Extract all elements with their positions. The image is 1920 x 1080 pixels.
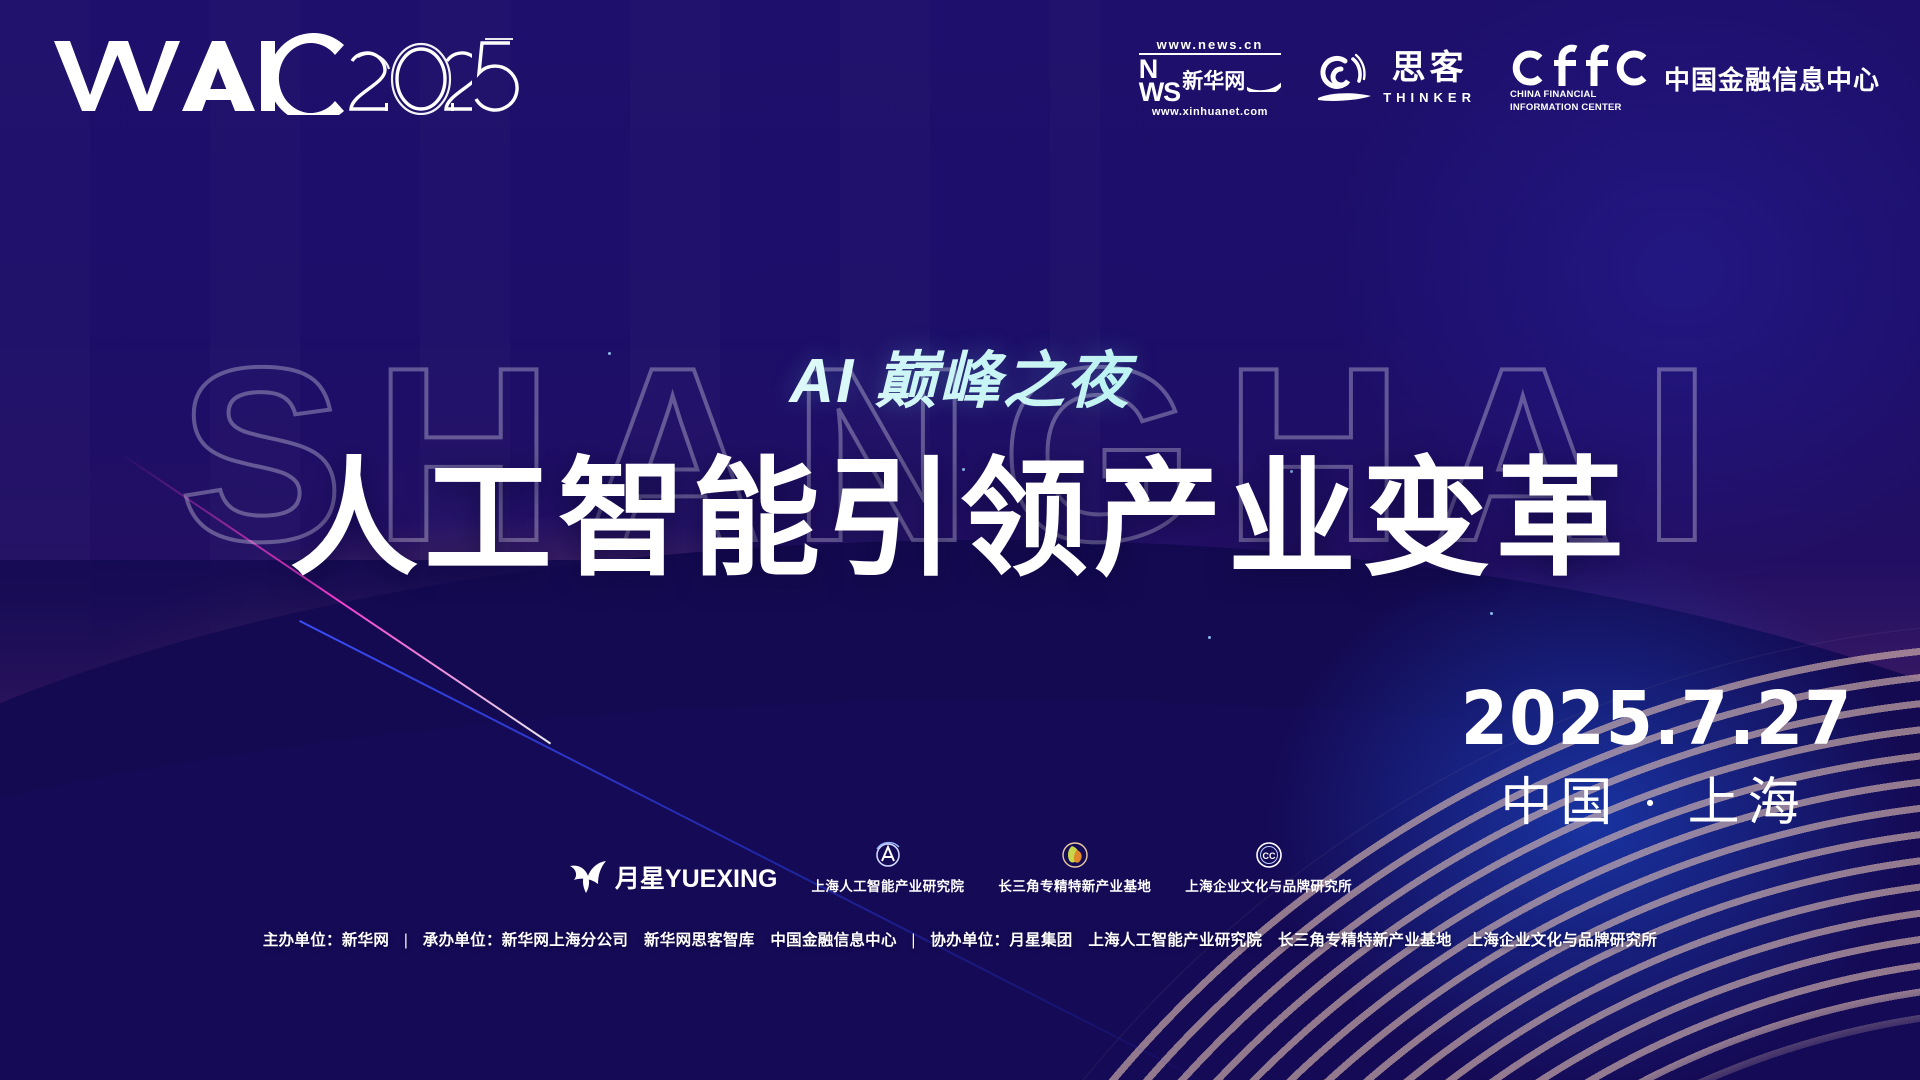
xinhua-mark-ws: WS: [1139, 81, 1181, 104]
cfic-en-line1: CHINA FINANCIAL: [1510, 90, 1650, 101]
sponsor-yuexing[interactable]: 月星YUEXING: [568, 859, 778, 895]
yangtze-delta-base-icon: [1060, 840, 1090, 870]
xinhua-cn-name: 新华网: [1182, 71, 1245, 92]
sponsor-yangtze-delta-base[interactable]: 长三角专精特新产业基地: [998, 840, 1151, 895]
credits-separator-2: |: [911, 932, 915, 949]
date-location-block: 2025.7.27 中国 · 上海: [1444, 682, 1864, 830]
logo-thinker[interactable]: 思客 THINKER: [1315, 51, 1476, 105]
sparkle-dot: [1208, 636, 1211, 639]
thinker-spiral-icon: [1315, 51, 1373, 105]
hero-headline: 人工智能引领产业变革: [0, 415, 1920, 600]
cfic-cn-name: 中国金融信息中心: [1664, 60, 1880, 97]
yuexing-label: 月星YUEXING: [615, 859, 778, 895]
waic-logo: [52, 34, 524, 114]
hero-subtitle: AI 巅峰之夜: [0, 330, 1920, 420]
xinhua-rule: [1139, 53, 1282, 55]
xinhua-bottom-url: www.xinhuanet.com: [1152, 107, 1268, 118]
event-date: 2025.7.27: [1461, 682, 1847, 756]
waic-logo-five: [466, 33, 524, 115]
xinhua-top-url: www.news.cn: [1157, 38, 1264, 51]
logo-xinhua-news[interactable]: www.news.cn N WS 新华网 www.xinhuanet.com: [1139, 38, 1282, 118]
cfic-en-line2: INFORMATION CENTER: [1510, 103, 1650, 114]
credits-organizer: 主办单位：新华网: [263, 932, 389, 949]
yangtze-delta-base-label: 长三角专精特新产业基地: [998, 875, 1151, 895]
yuexing-star-icon: [568, 860, 608, 894]
sponsor-logo-row: 月星YUEXING 上海人工智能产业研究院 长三角专精特新产业基地: [0, 840, 1920, 895]
credits-separator-1: |: [404, 932, 408, 949]
event-location: 中国 · 上海: [1444, 778, 1864, 830]
credits-host: 承办单位：新华网上海分公司 新华网思客智库 中国金融信息中心: [423, 932, 897, 949]
logo-cfic[interactable]: CHINA FINANCIAL INFORMATION CENTER 中国金融信…: [1510, 42, 1880, 114]
thinker-cn-name: 思客: [1392, 52, 1468, 86]
shanghai-brand-institute-label: 上海企业文化与品牌研究所: [1185, 875, 1352, 895]
poster-canvas: SHANGHAI: [0, 0, 1920, 1080]
xinhua-swoosh-icon: [1247, 70, 1281, 92]
credits-line: 主办单位：新华网 | 承办单位：新华网上海分公司 新华网思客智库 中国金融信息中…: [0, 928, 1920, 950]
partner-logo-row: www.news.cn N WS 新华网 www.xinhuanet.com: [1139, 38, 1880, 118]
credits-coorganizer: 协办单位：月星集团 上海人工智能产业研究院 长三角专精特新产业基地 上海企业文化…: [930, 932, 1657, 949]
sponsor-shanghai-ai-institute[interactable]: 上海人工智能产业研究院: [811, 840, 964, 895]
sponsor-shanghai-brand-institute[interactable]: CC 上海企业文化与品牌研究所: [1185, 840, 1352, 895]
sparkle-dot: [1490, 612, 1493, 615]
waic-logo-art: [52, 33, 472, 115]
shanghai-brand-institute-icon: CC: [1254, 840, 1284, 870]
shanghai-ai-institute-icon: [873, 840, 903, 870]
svg-text:CC: CC: [1262, 851, 1275, 861]
thinker-en-name: THINKER: [1383, 90, 1476, 105]
cfic-mark-icon: [1510, 42, 1650, 88]
shanghai-ai-institute-label: 上海人工智能产业研究院: [811, 875, 964, 895]
